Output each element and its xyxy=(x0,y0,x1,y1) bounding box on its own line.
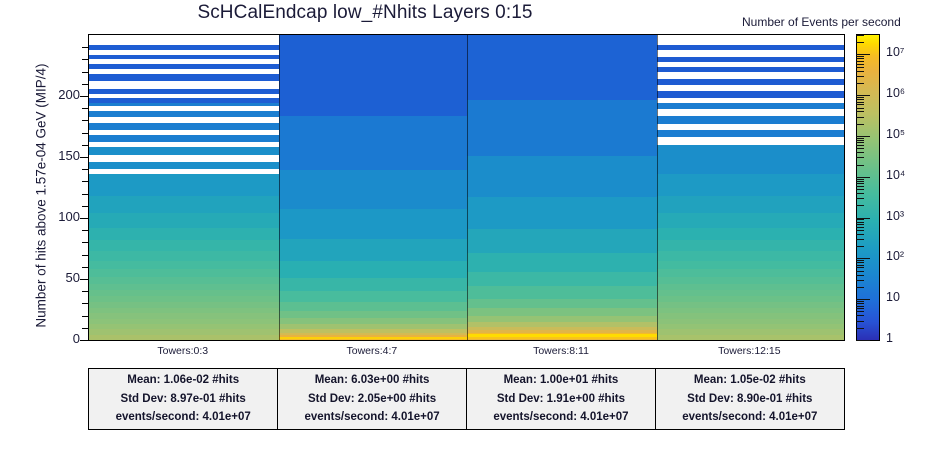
events-per-second-value: events/second: 4.01e+07 xyxy=(116,408,251,427)
heat-band xyxy=(657,329,844,335)
stats-box: Mean: 1.06e-02 #hitsStd Dev: 8.97e-01 #h… xyxy=(88,368,278,430)
colorbar-minor-tick xyxy=(856,104,864,105)
heat-band xyxy=(89,240,279,251)
y-axis-minor-tick xyxy=(82,194,88,195)
empty-row xyxy=(89,142,279,147)
heat-band xyxy=(89,174,279,196)
colorbar-minor-tick xyxy=(856,181,864,182)
heat-band xyxy=(89,324,279,329)
colorbar-minor-tick xyxy=(856,224,864,225)
colorbar-tick-label: 10⁷ xyxy=(886,45,904,59)
colorbar-minor-tick xyxy=(856,67,864,68)
std-dev-value: Std Dev: 2.05e+00 #hits xyxy=(308,390,436,409)
colorbar-minor-tick xyxy=(856,179,864,180)
heat-band xyxy=(89,277,279,284)
empty-row xyxy=(657,62,844,67)
column-separator xyxy=(467,35,468,340)
heat-band xyxy=(279,116,468,171)
y-axis-minor-tick xyxy=(82,255,88,256)
colorbar-minor-tick xyxy=(856,42,864,43)
column-bands xyxy=(279,35,468,340)
colorbar-minor-tick xyxy=(856,239,864,240)
heatmap-plot-area[interactable] xyxy=(88,34,845,341)
y-axis-minor-tick xyxy=(82,133,88,134)
heat-band xyxy=(89,329,279,335)
heat-band xyxy=(657,319,844,324)
events-per-second-value: events/second: 4.01e+07 xyxy=(682,408,817,427)
heat-band xyxy=(657,269,844,276)
empty-row xyxy=(657,137,844,144)
y-axis-tick-label: 50 xyxy=(36,270,80,285)
colorbar-minor-tick xyxy=(856,102,864,103)
colorbar-minor-tick xyxy=(856,234,864,235)
y-axis-tick xyxy=(80,157,88,158)
colorbar-minor-tick xyxy=(856,230,864,231)
colorbar-minor-tick xyxy=(856,189,864,190)
colorbar-minor-tick xyxy=(856,328,864,329)
empty-row xyxy=(89,130,279,135)
colorbar-minor-tick xyxy=(856,99,864,100)
stats-box: Mean: 6.03e+00 #hitsStd Dev: 2.05e+00 #h… xyxy=(277,368,467,430)
heat-band xyxy=(467,330,657,333)
colorbar-minor-tick xyxy=(856,145,864,146)
heatmap-column[interactable] xyxy=(89,35,279,340)
heat-band xyxy=(657,35,844,103)
colorbar-minor-tick xyxy=(856,71,864,72)
mean-value: Mean: 1.00e+01 #hits xyxy=(504,371,619,390)
y-axis-minor-tick xyxy=(82,291,88,292)
colorbar-minor-tick xyxy=(856,183,864,184)
colorbar-minor-tick xyxy=(856,193,864,194)
heat-band xyxy=(279,324,468,329)
y-axis-tick xyxy=(80,340,88,341)
y-axis-tick-label: 150 xyxy=(36,148,80,163)
heat-band xyxy=(279,278,468,291)
y-axis-minor-tick xyxy=(82,169,88,170)
x-axis-tick-label: Towers:4:7 xyxy=(312,345,432,357)
x-axis-tick-label: Towers:12:15 xyxy=(689,345,809,357)
heat-band xyxy=(467,197,657,229)
y-axis-minor-tick xyxy=(82,120,88,121)
colorbar-gradient[interactable] xyxy=(856,34,880,341)
heat-band xyxy=(279,318,468,324)
colorbar-tick-label: 10⁴ xyxy=(886,168,905,182)
column-separator xyxy=(279,35,280,340)
heat-band xyxy=(89,290,279,296)
colorbar-minor-tick xyxy=(856,321,864,322)
heat-band xyxy=(279,261,468,278)
y-axis-tick xyxy=(80,96,88,97)
colorbar-minor-tick xyxy=(856,222,864,223)
y-axis-tick xyxy=(80,218,88,219)
heat-band xyxy=(279,35,468,116)
empty-row xyxy=(89,35,279,45)
empty-row xyxy=(89,169,279,174)
mean-value: Mean: 6.03e+00 #hits xyxy=(315,371,430,390)
heatmap-column[interactable] xyxy=(279,35,468,340)
heat-band xyxy=(89,213,279,228)
colorbar-minor-tick xyxy=(856,311,864,312)
heat-band xyxy=(279,302,468,311)
colorbar-minor-tick xyxy=(856,76,864,77)
colorbar-tick-label: 10² xyxy=(886,249,904,263)
colorbar-minor-tick xyxy=(856,265,864,266)
colorbar-minor-tick xyxy=(856,157,864,158)
heat-band xyxy=(657,324,844,329)
y-axis-tick xyxy=(80,279,88,280)
heat-band xyxy=(467,286,657,298)
heat-band xyxy=(657,174,844,196)
peak-line xyxy=(279,337,468,339)
stats-box: Mean: 1.00e+01 #hitsStd Dev: 1.91e+00 #h… xyxy=(466,368,656,430)
colorbar-minor-tick xyxy=(856,301,864,302)
stats-box: Mean: 1.05e-02 #hitsStd Dev: 8.90e-01 #h… xyxy=(655,368,845,430)
colorbar-minor-tick xyxy=(856,287,864,288)
y-axis-minor-tick xyxy=(82,72,88,73)
colorbar-title: Number of Events per second xyxy=(742,15,901,29)
colorbar-major-tick xyxy=(856,136,870,137)
heat-band xyxy=(279,239,468,261)
heat-band xyxy=(89,313,279,319)
colorbar-minor-tick xyxy=(856,108,864,109)
colorbar-minor-tick xyxy=(856,165,864,166)
colorbar-minor-tick xyxy=(856,306,864,307)
empty-row xyxy=(89,94,279,99)
std-dev-value: Std Dev: 1.91e+00 #hits xyxy=(497,390,625,409)
colorbar-minor-tick xyxy=(856,262,864,263)
heat-band xyxy=(657,302,844,308)
colorbar-tick-label: 10 xyxy=(886,290,900,304)
colorbar-minor-tick xyxy=(856,219,864,220)
empty-row xyxy=(657,109,844,115)
page-title: ScHCalEndcap low_#Nhits Layers 0:15 xyxy=(0,2,730,24)
y-axis-minor-tick xyxy=(82,59,88,60)
y-axis-minor-tick xyxy=(82,303,88,304)
colorbar-minor-tick xyxy=(856,198,864,199)
y-axis-minor-tick xyxy=(82,145,88,146)
std-dev-value: Std Dev: 8.90e-01 #hits xyxy=(687,390,812,409)
heat-band xyxy=(657,228,844,240)
colorbar-minor-tick xyxy=(856,280,864,281)
empty-row xyxy=(657,72,844,79)
heat-band xyxy=(89,261,279,270)
heat-band xyxy=(657,308,844,313)
colorbar-minor-tick xyxy=(856,271,864,272)
colorbar-minor-tick xyxy=(856,35,864,36)
empty-row xyxy=(89,59,279,64)
events-per-second-value: events/second: 4.01e+07 xyxy=(304,408,439,427)
y-axis-minor-tick xyxy=(82,328,88,329)
colorbar-major-tick xyxy=(856,95,870,96)
colorbar-minor-tick xyxy=(856,303,864,304)
heat-band xyxy=(657,196,844,213)
heat-band xyxy=(89,228,279,240)
colorbar-minor-tick xyxy=(856,58,864,59)
y-axis-minor-tick xyxy=(82,242,88,243)
colorbar-minor-tick xyxy=(856,124,864,125)
colorbar-minor-tick xyxy=(856,275,864,276)
heat-band xyxy=(89,335,279,340)
colorbar-minor-tick xyxy=(856,117,864,118)
heat-band xyxy=(467,316,657,322)
heatmap-column[interactable] xyxy=(467,35,657,340)
heat-band xyxy=(467,327,657,331)
colorbar-minor-tick xyxy=(856,56,864,57)
heat-band xyxy=(657,240,844,251)
colorbar-minor-tick xyxy=(856,152,864,153)
heat-band xyxy=(279,170,468,209)
heat-band xyxy=(657,313,844,319)
colorbar-minor-tick xyxy=(856,260,864,261)
empty-row xyxy=(657,35,844,45)
colorbar-minor-tick xyxy=(856,205,864,206)
colorbar-major-tick xyxy=(856,177,870,178)
empty-row xyxy=(657,124,844,130)
colorbar-tick-label: 10³ xyxy=(886,209,904,223)
heat-band xyxy=(657,284,844,290)
plot-canvas: ScHCalEndcap low_#Nhits Layers 0:15 Numb… xyxy=(0,0,938,457)
y-axis-minor-tick xyxy=(82,181,88,182)
colorbar-minor-tick xyxy=(856,138,864,139)
column-bands xyxy=(467,35,657,340)
heat-band xyxy=(89,251,279,261)
empty-row xyxy=(89,106,279,111)
heat-band xyxy=(657,145,844,174)
empty-row xyxy=(657,85,844,91)
y-axis-minor-tick xyxy=(82,206,88,207)
colorbar-minor-tick xyxy=(856,315,864,316)
heat-band xyxy=(467,322,657,327)
colorbar-minor-tick xyxy=(856,186,864,187)
empty-row xyxy=(657,50,844,57)
colorbar-major-tick xyxy=(856,299,870,300)
y-axis-minor-tick xyxy=(82,108,88,109)
y-axis-minor-tick xyxy=(82,47,88,48)
empty-row xyxy=(657,98,844,103)
empty-row xyxy=(89,155,279,162)
heat-band xyxy=(657,290,844,296)
colorbar-minor-tick xyxy=(856,64,864,65)
y-axis-minor-tick xyxy=(82,84,88,85)
heat-band xyxy=(279,311,468,318)
colorbar-minor-tick xyxy=(856,61,864,62)
colorbar-major-tick xyxy=(856,218,870,219)
colorbar-minor-tick xyxy=(856,111,864,112)
heat-band xyxy=(279,209,468,238)
x-axis-tick-label: Towers:8:11 xyxy=(501,345,621,357)
y-axis-tick-label: 200 xyxy=(36,87,80,102)
heat-band xyxy=(657,277,844,284)
heat-band xyxy=(467,156,657,197)
heat-band xyxy=(89,302,279,308)
colorbar-tick-label: 10⁶ xyxy=(886,86,905,100)
heat-band xyxy=(279,333,468,335)
colorbar-minor-tick xyxy=(856,140,864,141)
empty-row xyxy=(89,50,279,55)
colorbar-tick-label: 10⁵ xyxy=(886,127,905,141)
empty-row xyxy=(89,81,279,88)
y-axis-tick-label: 100 xyxy=(36,209,80,224)
heat-band xyxy=(89,296,279,302)
heat-band xyxy=(657,213,844,228)
stats-boxes: Mean: 1.06e-02 #hitsStd Dev: 8.97e-01 #h… xyxy=(88,368,845,430)
y-axis-minor-tick xyxy=(82,230,88,231)
colorbar-tick-label: 1 xyxy=(886,331,893,345)
colorbar-minor-tick xyxy=(856,267,864,268)
heat-band xyxy=(657,261,844,270)
heat-band xyxy=(657,251,844,261)
colorbar-minor-tick xyxy=(856,97,864,98)
x-axis-tick-label: Towers:0:3 xyxy=(123,345,243,357)
heat-band xyxy=(657,335,844,340)
heat-band xyxy=(89,308,279,313)
colorbar-minor-tick xyxy=(856,227,864,228)
empty-row xyxy=(89,69,279,74)
heat-band xyxy=(467,253,657,271)
colorbar-minor-tick xyxy=(856,246,864,247)
std-dev-value: Std Dev: 8.97e-01 #hits xyxy=(121,390,246,409)
heat-band xyxy=(279,339,468,340)
heat-band xyxy=(279,291,468,302)
y-axis-tick-label: 0 xyxy=(36,331,80,346)
empty-row xyxy=(89,117,279,123)
heat-band xyxy=(467,337,657,339)
colorbar-minor-tick xyxy=(856,308,864,309)
heat-band xyxy=(467,272,657,287)
heatmap-column[interactable] xyxy=(657,35,844,340)
y-axis-minor-tick xyxy=(82,316,88,317)
heat-band xyxy=(467,339,657,340)
heat-band xyxy=(467,35,657,100)
colorbar-major-tick xyxy=(856,54,870,55)
mean-value: Mean: 1.05e-02 #hits xyxy=(694,371,806,390)
heat-band xyxy=(89,284,279,290)
heat-band xyxy=(467,229,657,253)
colorbar-minor-tick xyxy=(856,83,864,84)
heat-band xyxy=(89,269,279,276)
heat-band xyxy=(467,299,657,309)
y-axis-tick-labels: 050100150200 xyxy=(30,0,80,457)
heat-band xyxy=(89,319,279,324)
mean-value: Mean: 1.06e-02 #hits xyxy=(127,371,239,390)
colorbar-minor-tick xyxy=(856,148,864,149)
column-bands xyxy=(657,35,844,340)
y-axis-minor-tick xyxy=(82,267,88,268)
heat-band xyxy=(467,100,657,156)
heat-band xyxy=(467,308,657,315)
colorbar-major-tick xyxy=(856,258,870,259)
heat-band xyxy=(89,196,279,213)
heat-band xyxy=(279,329,468,333)
colorbar-major-tick xyxy=(856,340,870,341)
events-per-second-value: events/second: 4.01e+07 xyxy=(493,408,628,427)
colorbar-minor-tick xyxy=(856,142,864,143)
peak-line xyxy=(467,334,657,336)
column-separator xyxy=(657,35,658,340)
heat-band xyxy=(657,296,844,302)
